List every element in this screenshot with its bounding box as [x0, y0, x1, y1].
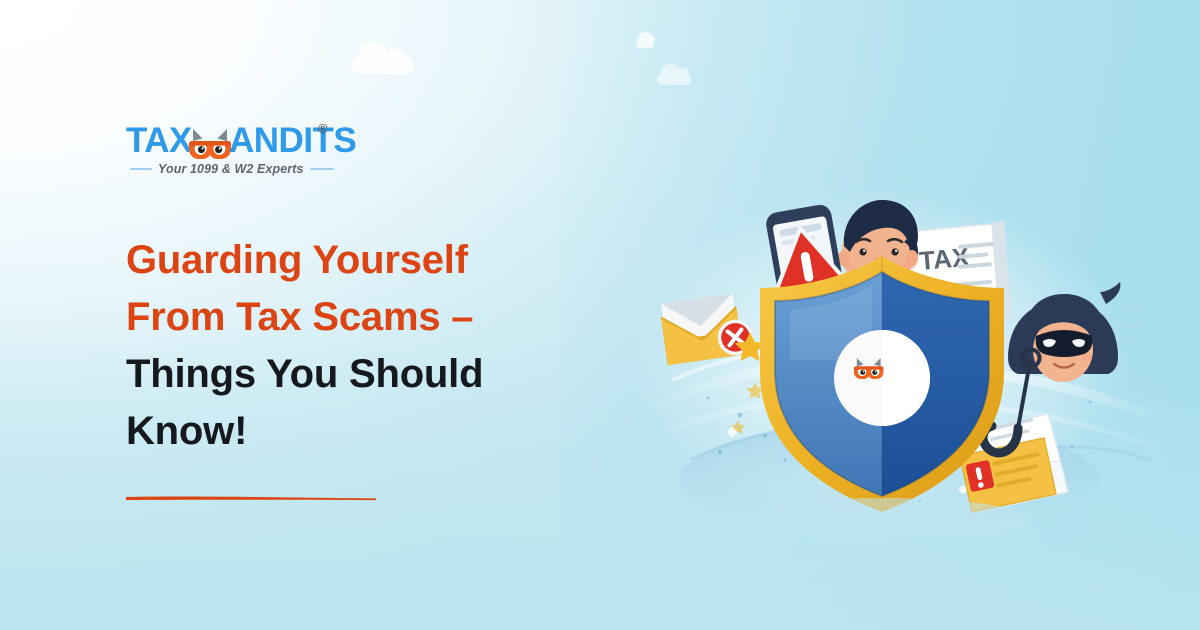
tagline-rule-right — [310, 168, 334, 170]
title-underline-brushstroke — [126, 489, 376, 496]
logo-text-tax: TAX — [126, 122, 192, 160]
headline-line-4: Know! — [126, 403, 576, 460]
tagline-rule-left — [130, 168, 152, 170]
tax-scam-protection-illustration: TAX — [620, 160, 1180, 540]
headline-line-1: Guarding Yourself — [126, 232, 576, 289]
cloud-icon-medium — [657, 74, 691, 85]
taxbandits-logo[interactable]: TAX AN — [126, 122, 341, 180]
logo-tagline-row: Your 1099 & W2 Experts — [130, 162, 336, 176]
shield-badge-bandit-mask-icon — [834, 330, 930, 426]
headline-line-3: Things You Should — [126, 346, 576, 403]
cloud-icon-small — [636, 39, 654, 48]
banner-canvas: TAX AN — [0, 0, 1200, 630]
bandit-mask-icon — [189, 129, 231, 159]
logo-wordmark: TAX AN — [126, 122, 341, 160]
logo-text-andits: ANDITS — [229, 122, 356, 160]
headline-line-2: From Tax Scams – — [126, 289, 576, 346]
registered-trademark-icon: ® — [318, 121, 328, 136]
logo-tagline: Your 1099 & W2 Experts — [158, 162, 304, 176]
page-title: Guarding Yourself From Tax Scams – Thing… — [126, 232, 576, 460]
cloud-icon-large — [352, 57, 414, 74]
